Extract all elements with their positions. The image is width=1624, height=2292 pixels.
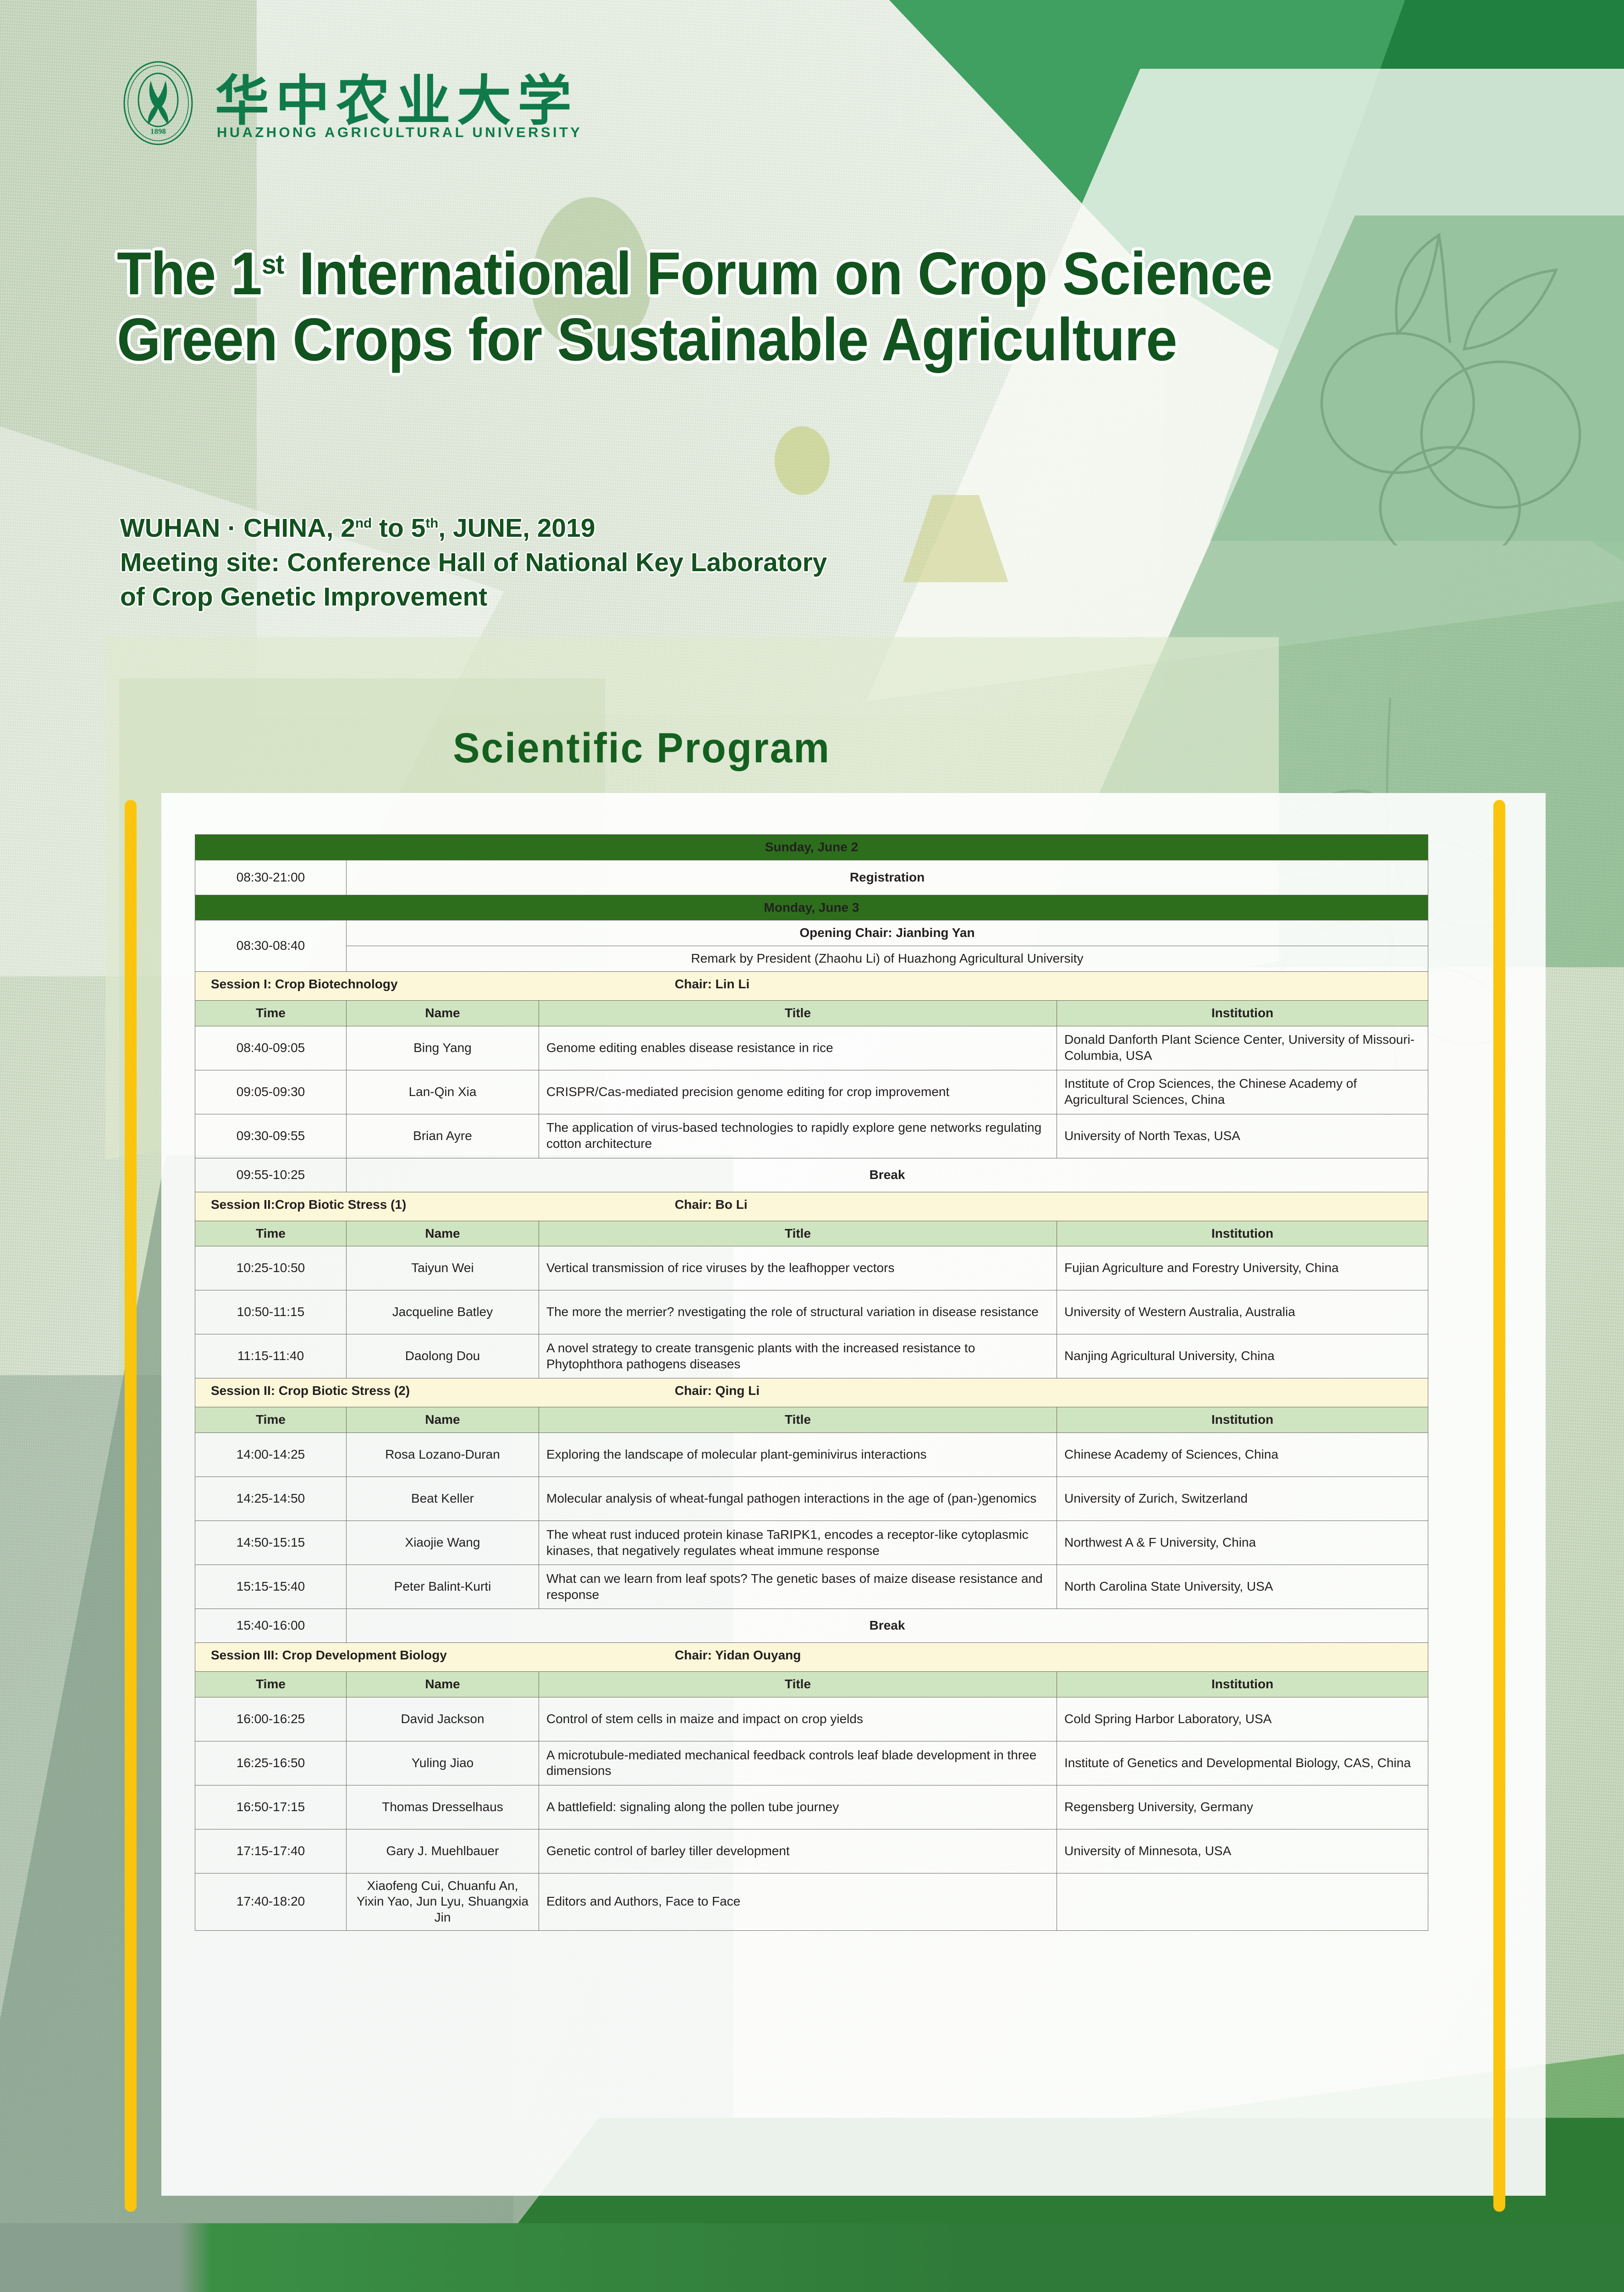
column-header-title: Title	[539, 1672, 1057, 1697]
accent-bar-right	[1493, 800, 1505, 2212]
session-header-row: Session II:Crop Biotic Stress (1) Chair:…	[195, 1192, 1428, 1221]
talk-title-cell: What can we learn from leaf spots? The g…	[539, 1565, 1057, 1609]
institution-cell: Institute of Genetics and Developmental …	[1057, 1741, 1428, 1785]
column-header-name: Name	[347, 1221, 539, 1246]
opening-chair-label: Opening Chair: Jianbing Yan	[347, 920, 1428, 946]
speaker-name-cell: Jacqueline Batley	[347, 1290, 539, 1334]
program-schedule-table: Sunday, June 2 08:30-21:00 Registration …	[195, 834, 1428, 1931]
table-row: Remark by President (Zhaohu Li) of Huazh…	[195, 946, 1428, 972]
time-cell: 08:30-21:00	[195, 860, 347, 895]
citrus-line-art-icon	[1285, 197, 1606, 545]
session-name: Session III: Crop Development Biology	[211, 1647, 447, 1664]
time-cell: 16:00-16:25	[195, 1697, 347, 1741]
event-label: Registration	[347, 860, 1428, 895]
title-line-1: The 1st International Forum on Crop Scie…	[117, 241, 1208, 307]
university-logo: 1898 华中农业大学 HUAZHONG AGRICULTURAL UNIVER…	[121, 60, 582, 147]
column-header-name: Name	[347, 1407, 539, 1433]
time-cell: 14:50-15:15	[195, 1521, 347, 1565]
time-cell: 08:30-08:40	[195, 920, 347, 971]
time-cell: 09:55-10:25	[195, 1158, 347, 1192]
speaker-name-cell: Thomas Dresselhaus	[347, 1785, 539, 1829]
column-header-row: Time Name Title Institution	[195, 1000, 1428, 1026]
time-cell: 17:15-17:40	[195, 1829, 347, 1873]
session-header-row: Session III: Crop Development Biology Ch…	[195, 1643, 1428, 1672]
talk-title-cell: Genetic control of barley tiller develop…	[539, 1829, 1057, 1873]
talk-title-cell: A battlefield: signaling along the polle…	[539, 1785, 1057, 1829]
talk-title-cell: Genome editing enables disease resistanc…	[539, 1026, 1057, 1070]
accent-bar-left	[125, 800, 137, 2212]
column-header-institution: Institution	[1057, 1221, 1428, 1246]
table-row: 16:50-17:15 Thomas Dresselhaus A battlef…	[195, 1785, 1428, 1829]
session-header-row: Session I: Crop Biotechnology Chair: Lin…	[195, 971, 1428, 1000]
column-header-time: Time	[195, 1407, 347, 1433]
day-label: Monday, June 3	[195, 895, 1428, 920]
column-header-time: Time	[195, 1672, 347, 1697]
table-row: 15:15-15:40 Peter Balint-Kurti What can …	[195, 1565, 1428, 1609]
speaker-name-cell: Brian Ayre	[347, 1114, 539, 1158]
speaker-name-cell: Peter Balint-Kurti	[347, 1565, 539, 1609]
column-header-title: Title	[539, 1221, 1057, 1246]
event-venue-line-1: Meeting site: Conference Hall of Nationa…	[120, 545, 1220, 580]
table-row: 08:30-08:40 Opening Chair: Jianbing Yan	[195, 920, 1428, 946]
institution-cell: Donald Danforth Plant Science Center, Un…	[1057, 1026, 1428, 1070]
opening-remark-label: Remark by President (Zhaohu Li) of Huazh…	[347, 946, 1428, 972]
speaker-name-cell: Xiaofeng Cui, Chuanfu An, Yixin Yao, Jun…	[347, 1873, 539, 1930]
talk-title-cell: The application of virus-based technolog…	[539, 1114, 1057, 1158]
time-cell: 14:00-14:25	[195, 1433, 347, 1477]
table-row: 09:05-09:30 Lan-Qin Xia CRISPR/Cas-media…	[195, 1070, 1428, 1114]
table-row: 10:25-10:50 Taiyun Wei Vertical transmis…	[195, 1246, 1428, 1290]
session-name: Session II:Crop Biotic Stress (1)	[211, 1197, 406, 1213]
institution-cell: Institute of Crop Sciences, the Chinese …	[1057, 1070, 1428, 1114]
column-header-institution: Institution	[1057, 1407, 1428, 1433]
column-header-row: Time Name Title Institution	[195, 1407, 1428, 1433]
speaker-name-cell: Rosa Lozano-Duran	[347, 1433, 539, 1477]
session-chair: Chair: Bo Li	[675, 1197, 748, 1213]
table-row: 17:15-17:40 Gary J. Muehlbauer Genetic c…	[195, 1829, 1428, 1873]
page-title: The 1st International Forum on Crop Scie…	[117, 241, 1290, 373]
time-cell: 15:15-15:40	[195, 1565, 347, 1609]
institution-cell: Cold Spring Harbor Laboratory, USA	[1057, 1697, 1428, 1741]
talk-title-cell: The more the merrier? nvestigating the r…	[539, 1290, 1057, 1334]
university-seal-icon: 1898	[121, 60, 195, 147]
session-name: Session II: Crop Biotic Stress (2)	[211, 1383, 410, 1399]
university-name-chinese: 华中农业大学	[215, 74, 582, 128]
speaker-name-cell: Yuling Jiao	[347, 1741, 539, 1785]
institution-cell: North Carolina State University, USA	[1057, 1565, 1428, 1609]
background-bottom-band	[0, 2223, 1624, 2292]
time-cell: 10:50-11:15	[195, 1290, 347, 1334]
time-cell: 09:05-09:30	[195, 1070, 347, 1114]
column-header-title: Title	[539, 1407, 1057, 1433]
session-header-row: Session II: Crop Biotic Stress (2) Chair…	[195, 1378, 1428, 1407]
speaker-name-cell: Daolong Dou	[347, 1334, 539, 1378]
day-header-row: Monday, June 3	[195, 895, 1428, 920]
time-cell: 11:15-11:40	[195, 1334, 347, 1378]
title-line-2: Green Crops for Sustainable Agriculture	[117, 307, 1208, 373]
institution-cell: Regensberg University, Germany	[1057, 1785, 1428, 1829]
break-row: 09:55-10:25 Break	[195, 1158, 1428, 1192]
table-row: 16:25-16:50 Yuling Jiao A microtubule-me…	[195, 1741, 1428, 1785]
table-row: 14:25-14:50 Beat Keller Molecular analys…	[195, 1477, 1428, 1521]
speaker-name-cell: Lan-Qin Xia	[347, 1070, 539, 1114]
table-row: 10:50-11:15 Jacqueline Batley The more t…	[195, 1290, 1428, 1334]
institution-cell: University of North Texas, USA	[1057, 1114, 1428, 1158]
talk-title-cell: CRISPR/Cas-mediated precision genome edi…	[539, 1070, 1057, 1114]
session-chair: Chair: Yidan Ouyang	[675, 1647, 801, 1664]
table-row: 11:15-11:40 Daolong Dou A novel strategy…	[195, 1334, 1428, 1378]
time-cell: 17:40-18:20	[195, 1873, 347, 1930]
speaker-name-cell: Bing Yang	[347, 1026, 539, 1070]
speaker-name-cell: Xiaojie Wang	[347, 1521, 539, 1565]
column-header-institution: Institution	[1057, 1000, 1428, 1026]
time-cell: 14:25-14:50	[195, 1477, 347, 1521]
break-label: Break	[347, 1158, 1428, 1192]
day-label: Sunday, June 2	[195, 835, 1428, 860]
column-header-time: Time	[195, 1000, 347, 1026]
institution-cell: Fujian Agriculture and Forestry Universi…	[1057, 1246, 1428, 1290]
talk-title-cell: Control of stem cells in maize and impac…	[539, 1697, 1057, 1741]
talk-title-cell: Editors and Authors, Face to Face	[539, 1873, 1057, 1930]
column-header-title: Title	[539, 1000, 1057, 1026]
table-row: 09:30-09:55 Brian Ayre The application o…	[195, 1114, 1428, 1158]
talk-title-cell: Exploring the landscape of molecular pla…	[539, 1433, 1057, 1477]
session-name: Session I: Crop Biotechnology	[211, 976, 398, 992]
event-venue-line-2: of Crop Genetic Improvement	[120, 580, 1220, 614]
time-cell: 09:30-09:55	[195, 1114, 347, 1158]
institution-cell: Northwest A & F University, China	[1057, 1521, 1428, 1565]
table-row: 08:30-21:00 Registration	[195, 860, 1428, 895]
day-header-row: Sunday, June 2	[195, 835, 1428, 860]
institution-cell: Chinese Academy of Sciences, China	[1057, 1433, 1428, 1477]
event-location-date: WUHAN · CHINA, 2nd to 5th, JUNE, 2019	[120, 511, 1220, 545]
institution-cell: Nanjing Agricultural University, China	[1057, 1334, 1428, 1378]
institution-cell: University of Zurich, Switzerland	[1057, 1477, 1428, 1521]
talk-title-cell: The wheat rust induced protein kinase Ta…	[539, 1521, 1057, 1565]
seal-year: 1898	[150, 127, 166, 136]
institution-cell: University of Minnesota, USA	[1057, 1829, 1428, 1873]
break-row: 15:40-16:00 Break	[195, 1609, 1428, 1643]
column-header-row: Time Name Title Institution	[195, 1672, 1428, 1697]
time-cell: 08:40-09:05	[195, 1026, 347, 1070]
time-cell: 15:40-16:00	[195, 1609, 347, 1643]
column-header-row: Time Name Title Institution	[195, 1221, 1428, 1246]
table-row: 14:00-14:25 Rosa Lozano-Duran Exploring …	[195, 1433, 1428, 1477]
talk-title-cell: A novel strategy to create transgenic pl…	[539, 1334, 1057, 1378]
column-header-institution: Institution	[1057, 1672, 1428, 1697]
speaker-name-cell: David Jackson	[347, 1697, 539, 1741]
institution-cell	[1057, 1873, 1428, 1930]
column-header-name: Name	[347, 1000, 539, 1026]
talk-title-cell: Vertical transmission of rice viruses by…	[539, 1246, 1057, 1290]
time-cell: 16:50-17:15	[195, 1785, 347, 1829]
time-cell: 16:25-16:50	[195, 1741, 347, 1785]
event-meta: WUHAN · CHINA, 2nd to 5th, JUNE, 2019 Me…	[120, 511, 1220, 615]
session-chair: Chair: Qing Li	[675, 1383, 760, 1399]
time-cell: 10:25-10:50	[195, 1246, 347, 1290]
table-row: 17:40-18:20 Xiaofeng Cui, Chuanfu An, Yi…	[195, 1873, 1428, 1930]
speaker-name-cell: Taiyun Wei	[347, 1246, 539, 1290]
table-row: 16:00-16:25 David Jackson Control of ste…	[195, 1697, 1428, 1741]
institution-cell: University of Western Australia, Austral…	[1057, 1290, 1428, 1334]
table-row: 08:40-09:05 Bing Yang Genome editing ena…	[195, 1026, 1428, 1070]
break-label: Break	[347, 1609, 1428, 1643]
decorative-seed-blob	[775, 426, 830, 495]
program-heading: Scientific Program	[32, 724, 1251, 772]
talk-title-cell: A microtubule-mediated mechanical feedba…	[539, 1741, 1057, 1785]
session-chair: Chair: Lin Li	[675, 976, 749, 992]
column-header-name: Name	[347, 1672, 539, 1697]
table-row: 14:50-15:15 Xiaojie Wang The wheat rust …	[195, 1521, 1428, 1565]
talk-title-cell: Molecular analysis of wheat-fungal patho…	[539, 1477, 1057, 1521]
speaker-name-cell: Gary J. Muehlbauer	[347, 1829, 539, 1873]
speaker-name-cell: Beat Keller	[347, 1477, 539, 1521]
conference-poster: 1898 华中农业大学 HUAZHONG AGRICULTURAL UNIVER…	[0, 0, 1624, 2292]
column-header-time: Time	[195, 1221, 347, 1246]
